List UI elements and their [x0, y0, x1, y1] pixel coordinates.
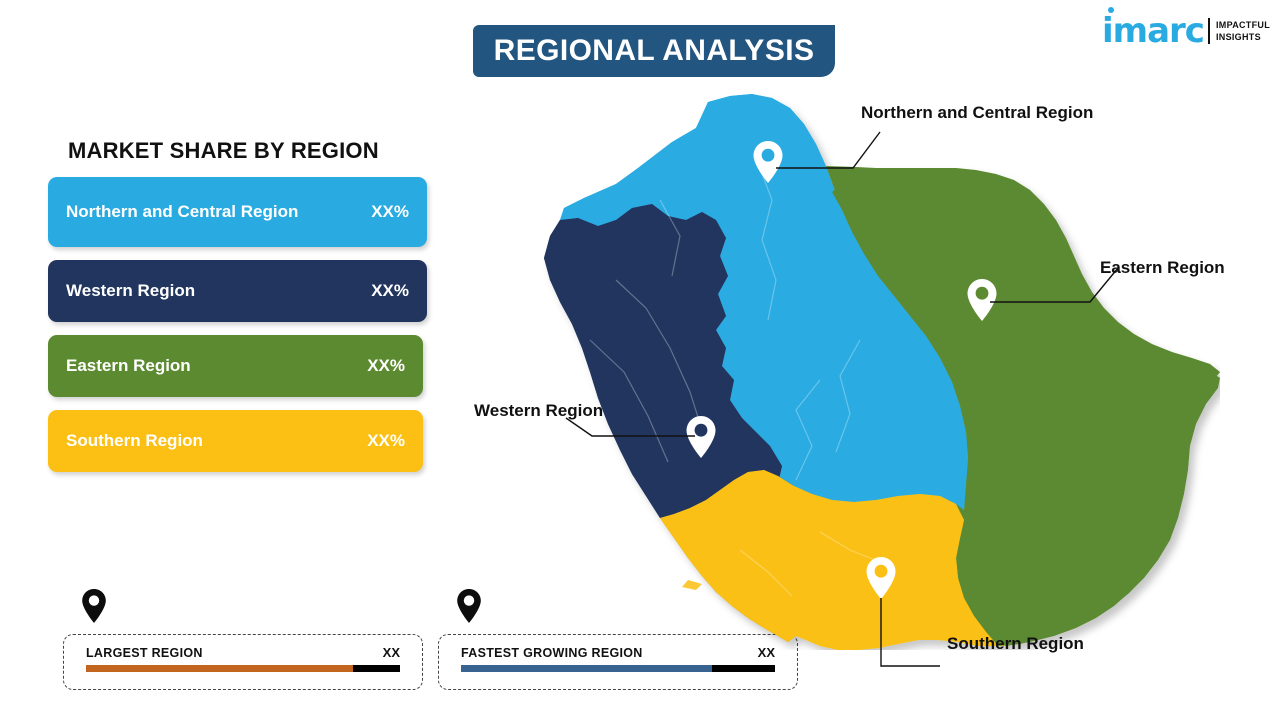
page-title-banner: REGIONAL ANALYSIS — [473, 25, 835, 77]
legend-item-value: XX% — [371, 202, 409, 222]
legend-item-value: XX% — [367, 356, 405, 376]
callout-label-western: Western Region — [474, 401, 603, 421]
callout-label-eastern: Eastern Region — [1100, 258, 1225, 278]
progress-track — [461, 665, 775, 672]
legend-list: Northern and Central Region XX% Western … — [48, 177, 440, 485]
legend-item-label: Western Region — [66, 280, 195, 301]
map-svg — [520, 80, 1220, 650]
regional-map — [520, 80, 1220, 650]
legend-item-eastern-region[interactable]: Eastern Region XX% — [48, 335, 423, 397]
slide-root: REGIONAL ANALYSIS imarc IMPACTFUL INSIGH… — [0, 0, 1280, 720]
stat-value: XX — [383, 645, 400, 660]
legend-item-western-region[interactable]: Western Region XX% — [48, 260, 427, 322]
stat-box-largest-region[interactable]: LARGEST REGION XX — [63, 634, 423, 690]
legend-item-label: Northern and Central Region — [66, 201, 298, 222]
map-pin-icon — [455, 588, 483, 624]
legend-item-value: XX% — [371, 281, 409, 301]
legend-item-value: XX% — [367, 431, 405, 451]
legend-item-label: Eastern Region — [66, 355, 191, 376]
callout-label-northern-and-central: Northern and Central Region — [861, 103, 1093, 123]
logo-dot-icon — [1108, 7, 1114, 13]
logo-tagline: IMPACTFUL INSIGHTS — [1216, 19, 1270, 43]
logo-tagline-line2: INSIGHTS — [1216, 31, 1270, 43]
logo-wordmark: imarc — [1102, 14, 1204, 48]
progress-fill — [86, 665, 353, 672]
logo-tagline-line1: IMPACTFUL — [1216, 19, 1270, 31]
legend-item-label: Southern Region — [66, 430, 203, 451]
imarc-logo: imarc IMPACTFUL INSIGHTS — [1102, 14, 1270, 48]
page-title: REGIONAL ANALYSIS — [494, 34, 815, 68]
stat-label: LARGEST REGION — [86, 646, 203, 660]
progress-track — [86, 665, 400, 672]
logo-divider — [1208, 18, 1210, 44]
market-share-heading: MARKET SHARE BY REGION — [68, 138, 379, 164]
map-pin-icon — [80, 588, 108, 624]
map-island-speck — [682, 580, 702, 590]
legend-item-northern-and-central-region[interactable]: Northern and Central Region XX% — [48, 177, 427, 247]
progress-fill — [461, 665, 712, 672]
callout-label-southern: Southern Region — [947, 634, 1084, 654]
legend-item-southern-region[interactable]: Southern Region XX% — [48, 410, 423, 472]
logo-word: imarc — [1102, 11, 1204, 51]
